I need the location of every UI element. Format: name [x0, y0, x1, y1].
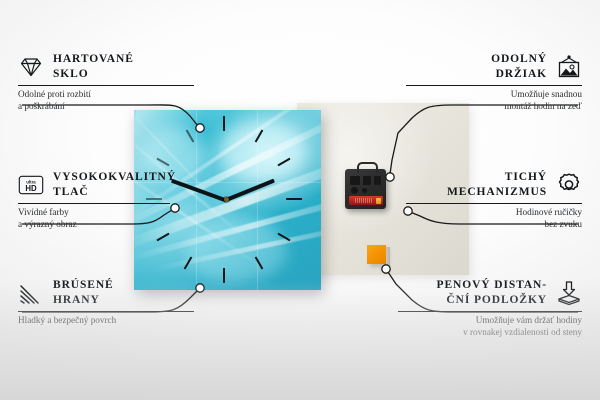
battery: [349, 196, 383, 205]
gear-icon: [556, 172, 582, 198]
feature-durable-holder[interactable]: ODOLNÝ DRŽIAK Umožňuje snadnou montáž ho…: [406, 52, 582, 112]
feature-title: PENOVÝ DISTAN- ČNÍ PODLOŽKY: [437, 278, 547, 307]
diamond-icon: [18, 54, 44, 80]
divider: [406, 85, 582, 86]
clock-tick: [223, 268, 225, 283]
divider: [18, 311, 194, 312]
feature-title: VYSOKOKVALITNÝ TLAČ: [53, 170, 176, 199]
clock-tick: [223, 116, 225, 131]
framed-picture-hanging-icon: [556, 54, 582, 80]
feature-subtitle: Hodinové ručičky bez zvuku: [406, 207, 582, 230]
feature-title: TICHÝ MECHANIZMUS: [447, 170, 547, 199]
divider: [18, 203, 170, 204]
arrow-down-stack-icon: [556, 280, 582, 306]
feature-title: BRÚSENÉ HRANY: [53, 278, 114, 307]
feature-high-quality-print[interactable]: ultra HD VYSOKOKVALITNÝ TLAČ Vivídné far…: [18, 170, 170, 230]
clock-hub: [224, 197, 229, 202]
mechanism-hanger: [357, 162, 378, 173]
ultra-hd-badge-icon: ultra HD: [18, 172, 44, 198]
infographic-canvas: HARTOVANÉ SKLO Odolné proti rozbití a po…: [0, 0, 600, 400]
foam-spacer-pad: [367, 245, 386, 264]
feature-subtitle: Umožňuje snadnou montáž hodin na zeď: [406, 89, 582, 112]
clock-tick: [286, 198, 302, 200]
feature-title: HARTOVANÉ SKLO: [53, 52, 134, 81]
divider: [406, 203, 582, 204]
feature-silent-mechanism[interactable]: TICHÝ MECHANIZMUS Hodinové ručičky bez z…: [406, 170, 582, 230]
divider: [18, 85, 194, 86]
feature-ground-edges[interactable]: BRÚSENÉ HRANY Hladký a bezpečný povrch: [18, 278, 194, 327]
clock-mechanism: [345, 169, 386, 209]
diagonal-lines-icon: [18, 280, 44, 306]
feature-subtitle: Odolné proti rozbití a poškrábání: [18, 89, 194, 112]
feature-subtitle: Vivídné farby a výrazný obraz: [18, 207, 170, 230]
feature-tempered-glass[interactable]: HARTOVANÉ SKLO Odolné proti rozbití a po…: [18, 52, 194, 112]
feature-subtitle: Umožňuje vám držať hodiny v rovnakej vzd…: [398, 315, 582, 338]
divider: [398, 311, 582, 312]
feature-foam-spacer-pads[interactable]: PENOVÝ DISTAN- ČNÍ PODLOŽKY Umožňuje vám…: [398, 278, 582, 338]
feature-title: ODOLNÝ DRŽIAK: [491, 52, 547, 81]
feature-subtitle: Hladký a bezpečný povrch: [18, 315, 194, 327]
svg-text:HD: HD: [25, 184, 37, 193]
